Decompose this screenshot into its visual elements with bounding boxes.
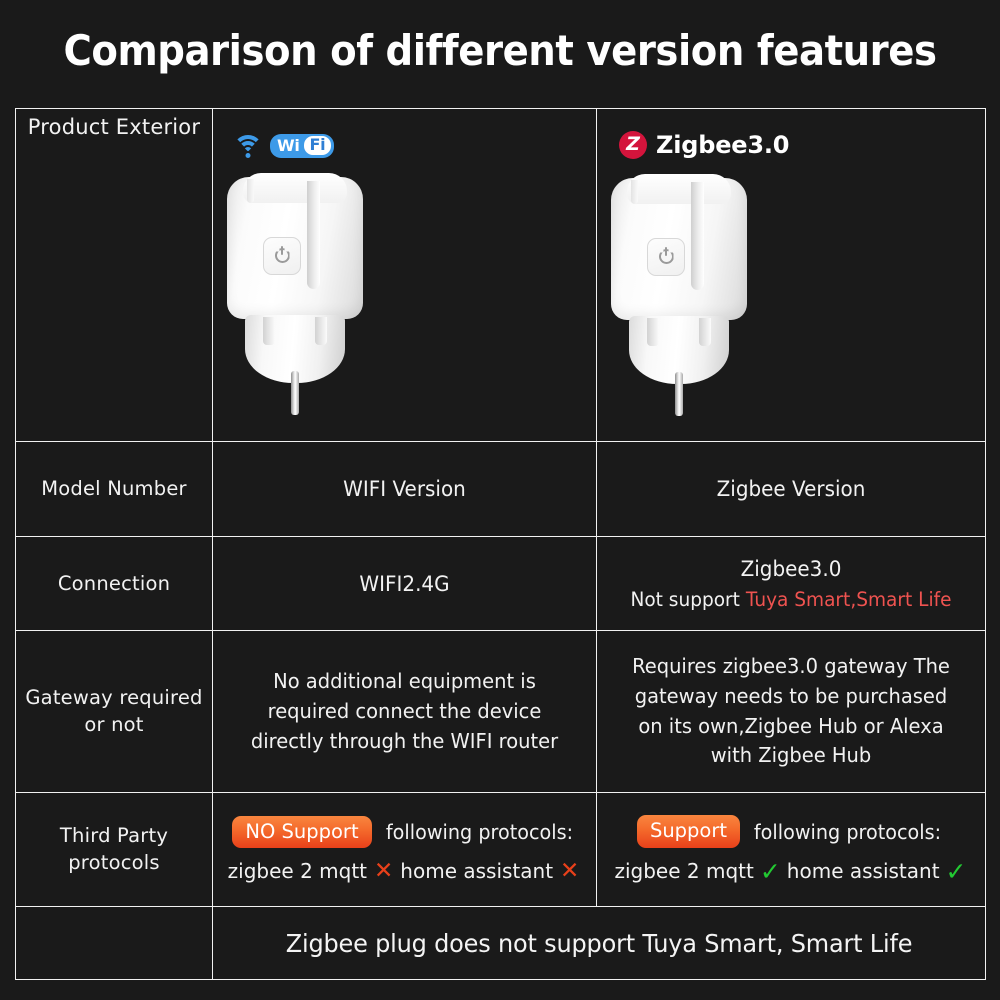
row-label-text: Product Exterior — [28, 115, 200, 139]
row-label-product-exterior: Product Exterior — [16, 109, 213, 442]
wifi-logo: Wi Fi — [233, 134, 334, 158]
cell-zigbee-gateway: Requires zigbee3.0 gateway The gateway n… — [597, 631, 986, 793]
protocol-name: zigbee 2 mqtt — [228, 859, 367, 883]
cell-value: No additional equipment is required conn… — [228, 667, 580, 756]
cross-icon: ✕ — [372, 860, 395, 883]
protocol-name: zigbee 2 mqtt — [614, 859, 753, 883]
wifi-plug-image — [219, 160, 371, 428]
row-label-model-number: Model Number — [16, 442, 213, 537]
cell-wifi-model-number: WIFI Version — [213, 442, 597, 537]
row-label-text: Gateway required or not — [25, 686, 202, 735]
zigbee-z-mark-icon: Z — [619, 131, 647, 159]
wifi-wordmark-fi: Fi — [304, 136, 332, 155]
cell-wifi-third-party-protocols: NO Support following protocols: zigbee 2… — [213, 793, 597, 907]
table-row-footer-note: Zigbee plug does not support Tuya Smart,… — [16, 907, 986, 980]
footer-note-text: Zigbee plug does not support Tuya Smart,… — [234, 929, 964, 958]
cell-value-line2: Not support Tuya Smart,Smart Life — [612, 587, 969, 612]
not-support-prefix: Not support — [630, 588, 745, 611]
page-title: Comparison of different version features — [40, 26, 960, 75]
wifi-wordmark-wi: Wi — [277, 136, 300, 155]
row-label-connection: Connection — [16, 537, 213, 631]
table-row-gateway: Gateway required or not No additional eq… — [16, 631, 986, 793]
table-row-product-exterior: Product Exterior Wi Fi — [16, 109, 986, 442]
cell-value: Zigbee Version — [612, 475, 969, 503]
row-label-third-party-protocols: Third Party protocols — [16, 793, 213, 907]
cell-zigbee-model-number: Zigbee Version — [597, 442, 986, 537]
zigbee-logo: Z Zigbee3.0 — [619, 131, 789, 159]
cell-zigbee-product-exterior: Z Zigbee3.0 — [597, 109, 986, 442]
support-badge: Support — [637, 815, 740, 847]
wifi-wordmark: Wi Fi — [270, 134, 334, 158]
table-row-model-number: Model Number WIFI Version Zigbee Version — [16, 442, 986, 537]
comparison-infographic: Comparison of different version features… — [0, 0, 1000, 1000]
zigbee-plug-image — [603, 161, 755, 429]
row-label-text: Connection — [58, 572, 170, 595]
table-row-third-party-protocols: Third Party protocols NO Support followi… — [16, 793, 986, 907]
cell-wifi-connection: WIFI2.4G — [213, 537, 597, 631]
footer-empty-cell — [16, 907, 213, 980]
cell-zigbee-connection: Zigbee3.0 Not support Tuya Smart,Smart L… — [597, 537, 986, 631]
cell-zigbee-third-party-protocols: Support following protocols: zigbee 2 mq… — [597, 793, 986, 907]
footer-note-cell: Zigbee plug does not support Tuya Smart,… — [213, 907, 986, 980]
zigbee-wordmark: Zigbee3.0 — [656, 131, 789, 159]
protocol-name: home assistant — [787, 859, 940, 883]
following-protocols-label: following protocols: — [754, 820, 941, 844]
cell-value: WIFI Version — [228, 475, 580, 503]
row-label-gateway: Gateway required or not — [16, 631, 213, 793]
comparison-table: Product Exterior Wi Fi — [15, 108, 986, 980]
cell-wifi-gateway: No additional equipment is required conn… — [213, 631, 597, 793]
check-icon: ✓ — [759, 859, 782, 884]
unsupported-apps: Tuya Smart,Smart Life — [746, 588, 952, 611]
power-button-icon — [263, 237, 301, 275]
cell-value: WIFI2.4G — [228, 570, 580, 598]
check-icon: ✓ — [945, 859, 968, 884]
no-support-badge: NO Support — [232, 816, 371, 848]
row-label-text: Model Number — [41, 477, 186, 500]
row-label-text: Third Party protocols — [60, 824, 168, 873]
table-row-connection: Connection WIFI2.4G Zigbee3.0 Not suppor… — [16, 537, 986, 631]
following-protocols-label: following protocols: — [386, 820, 573, 844]
cross-icon: ✕ — [558, 860, 581, 883]
protocol-name: home assistant — [400, 859, 553, 883]
cell-value-line1: Zigbee3.0 — [612, 555, 969, 583]
cell-wifi-product-exterior: Wi Fi — [213, 109, 597, 442]
power-button-icon — [647, 238, 685, 276]
zigbee-mark-letter: Z — [619, 131, 647, 159]
cell-value: Requires zigbee3.0 gateway The gateway n… — [612, 652, 969, 771]
wifi-signal-icon — [233, 134, 263, 157]
